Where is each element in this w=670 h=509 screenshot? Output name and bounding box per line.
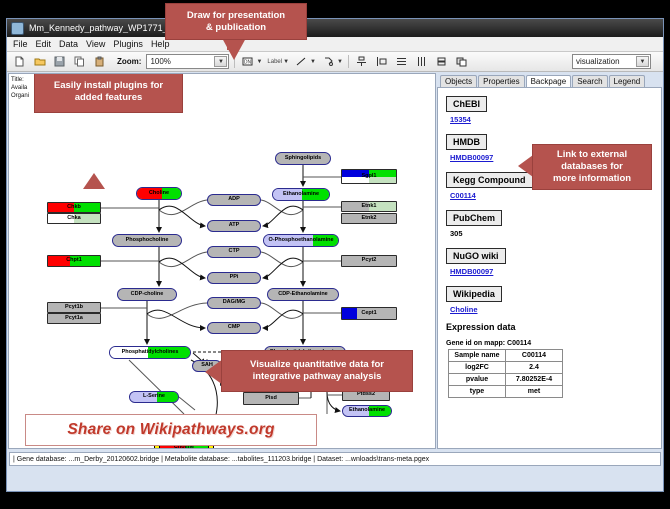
pathway-node-label: CMP: [228, 325, 240, 331]
expression-row-value: C00114: [506, 350, 563, 362]
zoom-value: 100%: [150, 57, 170, 66]
pathway-node-label: Pcyt2: [362, 258, 377, 264]
table-row: typemet: [449, 386, 563, 398]
tab-properties[interactable]: Properties: [478, 75, 524, 87]
pathway-node-pcyt1a[interactable]: Pcyt1a: [47, 313, 101, 324]
pathway-node-label: Choline: [149, 191, 169, 197]
plugins-callout-stem: [83, 173, 105, 189]
copy-icon[interactable]: [72, 54, 87, 69]
pathway-node-label: Cept1: [361, 311, 376, 317]
pathway-node-l-serine-left[interactable]: L-Serine: [129, 391, 179, 403]
menu-item-help[interactable]: Help: [151, 39, 170, 49]
pathway-node-label: Ethanolamine: [283, 192, 319, 198]
pathway-node-label: DAG/MG: [223, 300, 246, 306]
pathway-canvas[interactable]: Title: Availa Organi: [8, 73, 436, 449]
tab-objects[interactable]: Objects: [440, 75, 477, 87]
label-tool[interactable]: Label ▼: [267, 59, 289, 65]
pathway-node-label: ADP: [228, 197, 240, 203]
pathway-node-pcyt2[interactable]: Pcyt2: [341, 255, 397, 267]
canvas-meta-organism: Organi: [11, 92, 29, 100]
pathway-node-label: Ptdss2: [357, 392, 375, 398]
svg-text:DN: DN: [244, 60, 252, 66]
pathway-node-chkb[interactable]: Chkb: [47, 202, 101, 213]
pathway-node-label: Pcyt1b: [65, 305, 83, 311]
align-left-icon[interactable]: [374, 54, 389, 69]
visualize-callout-line1: Visualize quantitative data for: [250, 359, 384, 371]
chevron-down-icon[interactable]: ▼: [310, 59, 316, 65]
menu-item-plugins[interactable]: Plugins: [113, 39, 143, 49]
align-center-icon[interactable]: [354, 54, 369, 69]
canvas-meta-availability: Availa: [11, 84, 29, 92]
expression-callout-arrow: [437, 291, 438, 305]
table-row: Sample nameC00114: [449, 350, 563, 362]
status-bar: | Gene database: ...m_Derby_20120602.bri…: [9, 452, 661, 466]
zoom-combo[interactable]: 100% ▼: [146, 54, 229, 69]
distribute-horizontal-icon[interactable]: [414, 54, 429, 69]
paste-icon[interactable]: [92, 54, 107, 69]
pathway-node-label: Chpt1: [66, 258, 82, 264]
pathway-node-label: Chkb: [67, 205, 81, 211]
db-header-hmdb: HMDB: [446, 134, 487, 150]
chevron-down-icon[interactable]: ▼: [283, 59, 289, 65]
db-link-kegg[interactable]: C00114: [450, 191, 661, 200]
toolbar: Zoom: 100% ▼ DN ▼ Label ▼ ▼ ▼: [7, 52, 663, 72]
title-bar: Mm_Kennedy_pathway_WP1771_45176.gpml: [7, 19, 663, 37]
pathway-node-ctp[interactable]: CTP: [207, 246, 261, 258]
pathway-node-phosphatidylcholines[interactable]: Phosphatidylcholines: [109, 346, 191, 359]
draw-callout: Draw for presentation & publication: [165, 3, 307, 40]
plugins-callout-line2: added features: [75, 92, 143, 104]
pathway-node-label: L-Serine: [143, 394, 165, 400]
anchor-icon[interactable]: [321, 54, 336, 69]
distribute-vertical-icon[interactable]: [394, 54, 409, 69]
tab-legend[interactable]: Legend: [609, 75, 646, 87]
db-header-nugo: NuGO wiki: [446, 248, 506, 264]
link-callout-line3: more information: [553, 173, 631, 185]
pathway-node-label: CDP-Ethanolamine: [278, 292, 328, 298]
link-callout-line2: databases for: [561, 161, 623, 173]
pathway-node-o-phosphoethanolamine[interactable]: O-Phosphoethanolamine: [263, 234, 339, 247]
chevron-down-icon[interactable]: ▼: [337, 59, 343, 65]
plugins-callout: Easily install plugins for added feature…: [34, 73, 183, 113]
expression-row-value: 7.80252E-4: [506, 374, 563, 386]
pathway-node-adp[interactable]: ADP: [207, 194, 261, 206]
draw-callout-line2: & publication: [206, 22, 266, 34]
tab-backpage[interactable]: Backpage: [526, 75, 572, 87]
pathway-node-label: Sphingolipids: [285, 156, 321, 162]
db-header-chebi: ChEBI: [446, 96, 487, 112]
expression-row-label: Sample name: [449, 350, 506, 362]
db-header-wikipedia: Wikipedia: [446, 286, 502, 302]
draw-callout-line1: Draw for presentation: [187, 10, 285, 22]
pathway-node-pcyt1b[interactable]: Pcyt1b: [47, 302, 101, 313]
zoom-label: Zoom:: [117, 57, 141, 66]
pathway-node-ethanolamine-bottom[interactable]: Ethanolamine: [342, 405, 392, 417]
expression-row-label: pvalue: [449, 374, 506, 386]
pathway-node-label: ATP: [229, 223, 240, 229]
save-icon[interactable]: [52, 54, 67, 69]
pathway-node-label: Chka: [67, 216, 80, 222]
pathway-node-label: O-Phosphoethanolamine: [268, 238, 333, 244]
node-fill: [342, 308, 357, 319]
pathway-node-chpt1[interactable]: Chpt1: [47, 255, 101, 267]
side-panel-tabs: Objects Properties Backpage Search Legen…: [437, 73, 662, 87]
pathway-node-cmp[interactable]: CMP: [207, 322, 261, 334]
open-icon[interactable]: [32, 54, 47, 69]
pathway-node-sphingolipids[interactable]: Sphingolipids: [275, 152, 331, 165]
pathway-node-label: Phosphocholine: [126, 238, 169, 244]
pathway-node-label: Ethanolamine: [349, 408, 385, 414]
visualize-callout: Visualize quantitative data for integrat…: [221, 350, 413, 392]
pathway-node-dagmg[interactable]: DAG/MG: [207, 297, 261, 309]
pathway-node-label: CDP-choline: [131, 292, 164, 298]
pathway-node-ppi[interactable]: PPi: [207, 272, 261, 284]
label-icon[interactable]: Label: [267, 59, 282, 65]
gpml-editor-window: Mm_Kennedy_pathway_WP1771_45176.gpml Fil…: [6, 18, 664, 492]
stack-icon[interactable]: [434, 54, 449, 69]
share-banner-text: Share on Wikipathways.org: [67, 421, 274, 439]
main-area: Title: Availa Organi: [7, 72, 663, 450]
share-banner: Share on Wikipathways.org: [25, 414, 317, 446]
order-icon[interactable]: [454, 54, 469, 69]
pathway-node-label: Pcyt1a: [65, 316, 83, 322]
expression-row-label: type: [449, 386, 506, 398]
link-callout: Link to external databases for more info…: [532, 144, 652, 190]
chevron-down-icon[interactable]: ▼: [256, 59, 262, 65]
table-row: log2FC2.4: [449, 362, 563, 374]
anchor-tool[interactable]: ▼: [321, 54, 343, 69]
app-icon: [11, 22, 24, 35]
line-tool[interactable]: ▼: [294, 54, 316, 69]
db-link-nugo[interactable]: HMDB00097: [450, 267, 661, 276]
pathway-node-sgpl1[interactable]: Sgpl1: [341, 169, 397, 184]
pathway-node-chka[interactable]: Chka: [47, 213, 101, 224]
pathway-node-cdp-ethanolamine[interactable]: CDP-Ethanolamine: [267, 288, 339, 301]
visualization-value: visualization: [576, 57, 620, 66]
menu-item-file[interactable]: File: [13, 39, 28, 49]
pathway-node-phosphocholine[interactable]: Phosphocholine: [112, 234, 182, 247]
pathway-node-cdp-choline[interactable]: CDP-choline: [117, 288, 177, 301]
pathway-node-label: Pisd: [265, 396, 277, 402]
db-link-wikipedia[interactable]: Choline: [450, 305, 661, 314]
db-header-pubchem: PubChem: [446, 210, 502, 226]
side-panel: Objects Properties Backpage Search Legen…: [437, 73, 662, 449]
db-value-pubchem: 305: [450, 229, 661, 238]
new-icon[interactable]: [12, 54, 27, 69]
pathway-node-label: Sgpl1: [362, 174, 377, 180]
link-callout-line1: Link to external: [557, 149, 627, 161]
canvas-meta-title: Title:: [11, 76, 29, 84]
menu-bar: File Edit Data View Plugins Help: [7, 37, 663, 52]
tab-search[interactable]: Search: [572, 75, 607, 87]
expression-row-label: log2FC: [449, 362, 506, 374]
toolbar-separator: [348, 55, 349, 68]
status-bar-area: | Gene database: ...m_Derby_20120602.bri…: [7, 450, 663, 476]
visualization-combo[interactable]: visualization ▼: [572, 54, 651, 69]
menu-item-edit[interactable]: Edit: [36, 39, 52, 49]
backpage-content: ChEBI 15354 HMDB HMDB00097 Kegg Compound…: [437, 87, 662, 449]
pathway-node-etnk1[interactable]: Etnk1: [341, 201, 397, 212]
expression-row-value: 2.4: [506, 362, 563, 374]
pathway-node-label: Phosphatidylcholines: [122, 350, 179, 356]
gene-id-label: Gene id on mapp: C00114: [446, 340, 661, 347]
db-link-chebi[interactable]: 15354: [450, 115, 661, 124]
pathway-node-atp[interactable]: ATP: [207, 220, 261, 232]
menu-item-data[interactable]: Data: [59, 39, 78, 49]
pathway-node-cept1[interactable]: Cept1: [341, 307, 397, 320]
pathway-node-pisd[interactable]: Pisd: [243, 392, 299, 405]
menu-item-view[interactable]: View: [86, 39, 105, 49]
table-row: pvalue7.80252E-4: [449, 374, 563, 386]
expression-row-value: met: [506, 386, 563, 398]
pathway-node-label: Etnk1: [362, 204, 377, 210]
canvas-meta: Title: Availa Organi: [11, 76, 29, 100]
expression-data-heading: Expression data: [446, 322, 661, 332]
pathway-node-etnk2[interactable]: Etnk2: [341, 213, 397, 224]
line-icon[interactable]: [294, 54, 309, 69]
expression-table: Sample nameC00114log2FC2.4pvalue7.80252E…: [448, 349, 563, 398]
pathway-node-ethanolamine-top[interactable]: Ethanolamine: [272, 188, 330, 201]
link-callout-arrow: [518, 155, 533, 177]
chevron-down-icon[interactable]: ▼: [636, 56, 649, 67]
pathway-node-label: Etnk2: [362, 216, 377, 222]
visualize-callout-line2: integrative pathway analysis: [253, 371, 382, 383]
pathway-node-choline-top[interactable]: Choline: [136, 187, 182, 200]
pathway-node-label: PPi: [230, 275, 239, 281]
pathway-node-label: CTP: [229, 249, 240, 255]
plugins-callout-line1: Easily install plugins for: [54, 80, 163, 92]
